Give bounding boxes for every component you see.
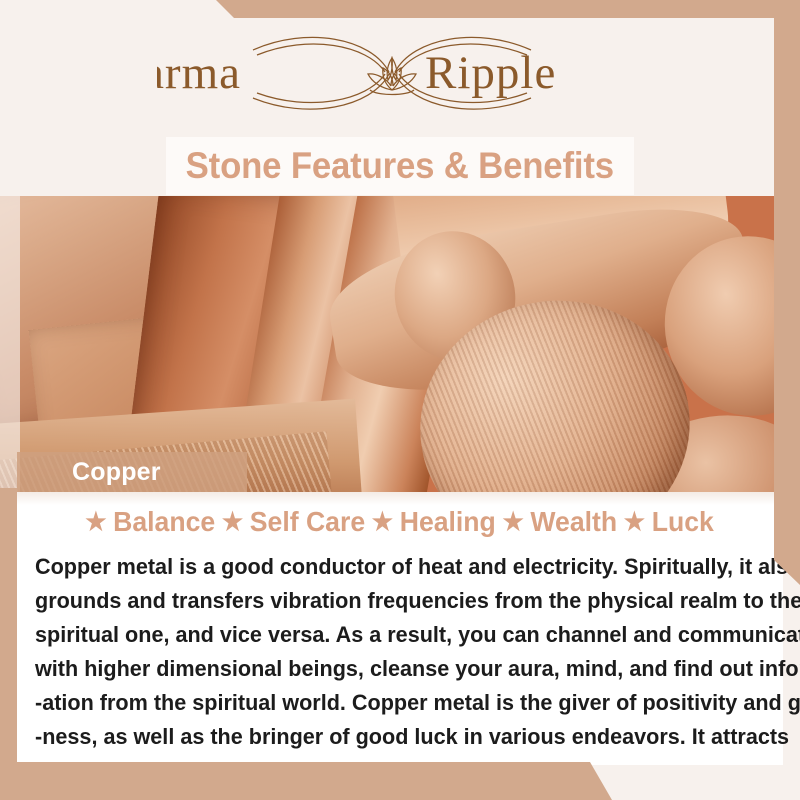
- description-line: -ation from the spiritual world. Copper …: [35, 686, 739, 720]
- photo-caption-label: Copper: [17, 458, 161, 487]
- brand-logo: Karma Ripple: [0, 28, 783, 120]
- photo-overlay-left: [0, 196, 20, 492]
- description-line: -ness, as well as the bringer of good lu…: [35, 720, 739, 754]
- logo-svg: Karma Ripple: [157, 28, 627, 120]
- benefits-list: ★Balance★Self Care★Healing★Wealth★Luck: [36, 506, 764, 538]
- title-banner: Stone Features & Benefits: [166, 137, 634, 195]
- description-line: spiritual one, and vice versa. As a resu…: [35, 618, 739, 652]
- benefit-item-luck: Luck: [648, 506, 718, 538]
- description-line: grounds and transfers vibration frequenc…: [35, 584, 739, 618]
- decor-bar-left: [0, 488, 17, 778]
- benefit-item-balance: Balance: [109, 506, 219, 538]
- star-icon: ★: [82, 507, 109, 537]
- star-icon: ★: [621, 507, 648, 537]
- photo-caption-bar: Copper: [17, 452, 247, 492]
- star-icon: ★: [369, 507, 396, 537]
- description-text: Copper metal is a good conductor of heat…: [35, 550, 739, 788]
- card-top-fade: [17, 492, 783, 505]
- content-card: ★Balance★Self Care★Healing★Wealth★Luck C…: [17, 492, 783, 765]
- benefit-item-wealth: Wealth: [527, 506, 621, 538]
- star-icon: ★: [219, 507, 246, 537]
- logo-word-left: Karma: [157, 47, 241, 99]
- copper-rods-photo: [0, 196, 800, 492]
- description-line: with higher dimensional beings, cleanse …: [35, 652, 739, 686]
- decor-bar-right: [774, 0, 800, 585]
- lotus-flower-icon: [368, 58, 416, 95]
- decor-bar-bottom: [0, 762, 620, 800]
- decor-bar-top-right: [0, 0, 800, 18]
- benefit-item-self-care: Self Care: [246, 506, 369, 538]
- logo-word-right: Ripple: [425, 47, 556, 99]
- star-icon: ★: [500, 507, 527, 537]
- benefit-item-healing: Healing: [396, 506, 500, 538]
- page-title: Stone Features & Benefits: [186, 145, 614, 187]
- description-line: Copper metal is a good conductor of heat…: [35, 550, 739, 584]
